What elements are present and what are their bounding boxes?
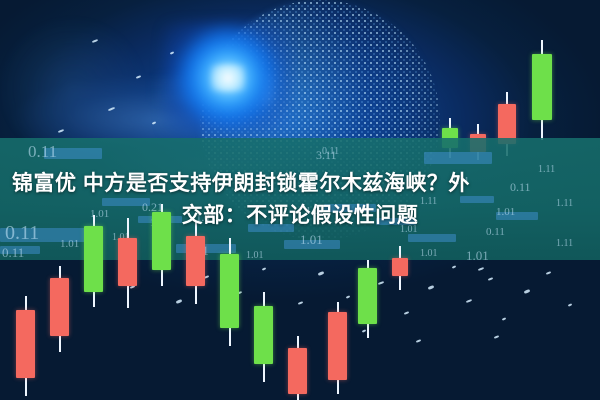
data-bar: [408, 234, 456, 242]
candlestick: [16, 296, 35, 396]
data-number: 1.01: [60, 238, 79, 250]
data-number: 0.11: [28, 142, 57, 162]
data-number: 1.01: [246, 250, 264, 260]
candle-body: [358, 268, 377, 324]
data-bar: [424, 152, 492, 164]
data-number: 1.01: [466, 248, 489, 260]
news-banner-image: 0.111.010.111.010.111.010.211.011.010.21…: [0, 0, 600, 400]
data-number: 0.11: [262, 138, 300, 144]
headline-line-1: 锦富优 中方是否支持伊朗封锁霍尔木兹海峡？外: [0, 168, 600, 200]
candle-body: [220, 254, 239, 328]
candlestick: [288, 336, 307, 400]
core-highlight: [211, 65, 245, 91]
candlestick: [358, 260, 377, 338]
candle-body: [254, 306, 273, 364]
candlestick: [392, 246, 408, 290]
candlestick: [532, 40, 552, 140]
candle-body: [532, 54, 552, 120]
candlestick: [50, 266, 69, 352]
data-number: 1.11: [556, 238, 573, 249]
candle-body: [84, 226, 103, 292]
candlestick: [254, 292, 273, 382]
candlestick: [220, 238, 239, 346]
candle-body: [392, 258, 408, 276]
headline-line-2: 交部：不评论假设性问题: [0, 200, 600, 232]
candlestick: [328, 302, 347, 394]
candlestick: [186, 222, 205, 304]
data-number: 0.11: [322, 146, 339, 157]
candle-body: [50, 278, 69, 336]
data-number: 1.01: [420, 248, 438, 259]
candle-body: [328, 312, 347, 380]
candle-body: [288, 348, 307, 394]
data-number: 1.01: [300, 232, 323, 248]
candle-body: [16, 310, 35, 378]
data-number: 0.11: [2, 245, 24, 260]
candle-body: [186, 236, 205, 286]
headline: 锦富优 中方是否支持伊朗封锁霍尔木兹海峡？外 交部：不评论假设性问题: [0, 168, 600, 232]
candle-body: [118, 238, 137, 286]
